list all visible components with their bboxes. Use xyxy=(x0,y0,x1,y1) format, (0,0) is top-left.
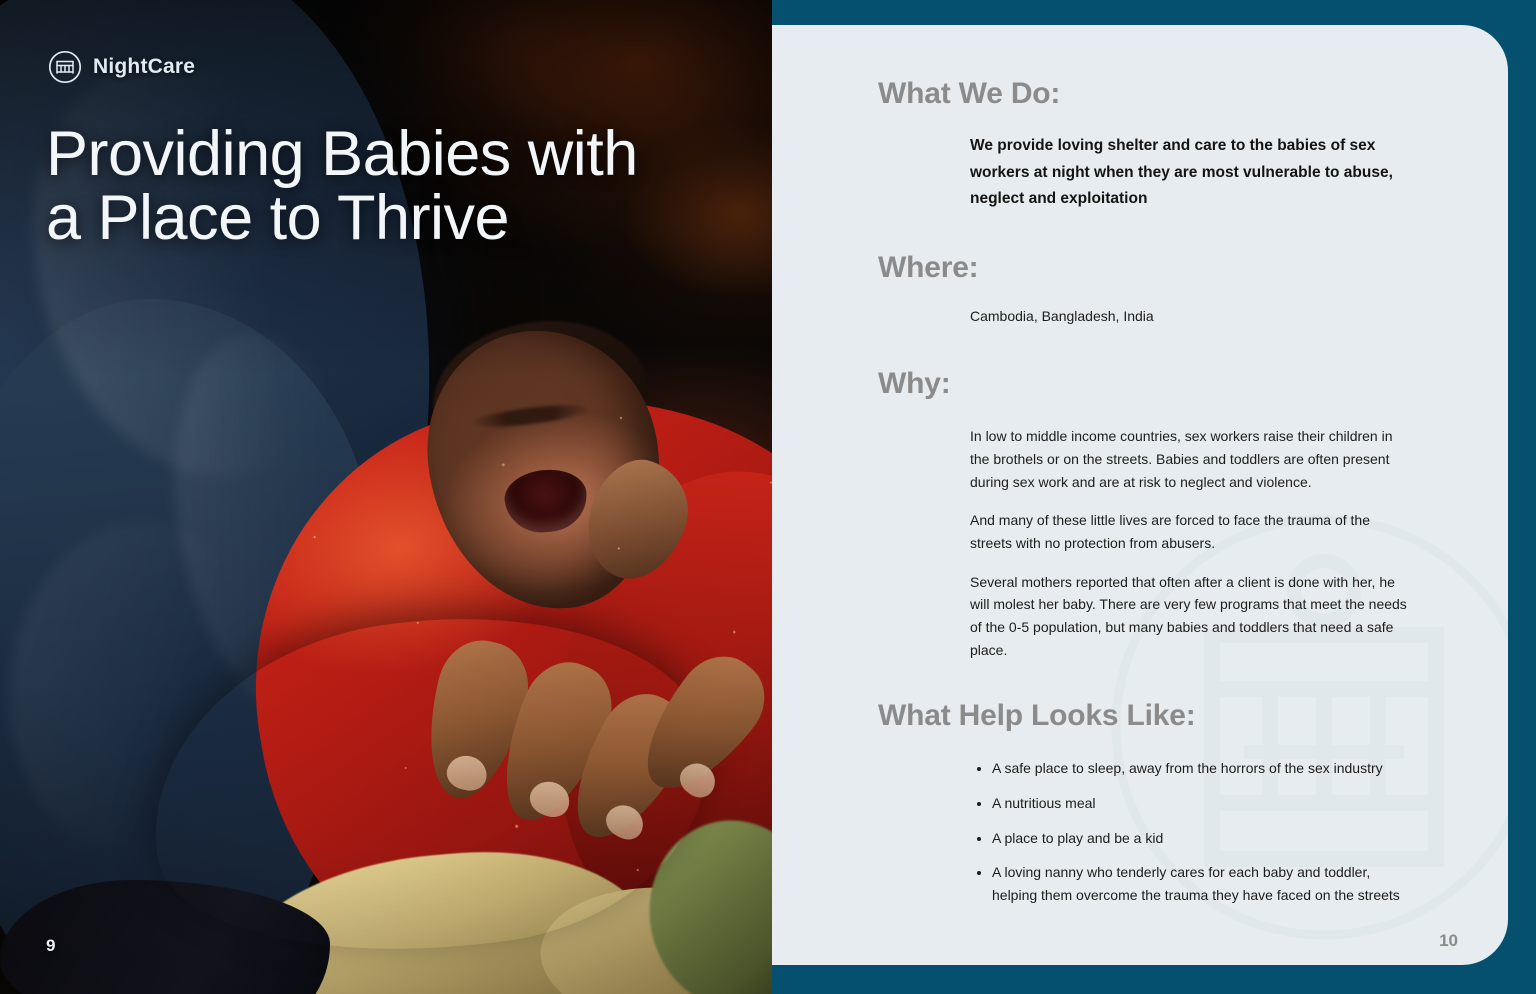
list-item: A place to play and be a kid xyxy=(992,827,1412,850)
brand-name: NightCare xyxy=(93,55,195,79)
section-heading-why: Why: xyxy=(878,367,1468,401)
left-page-photo: NightCare Providing Babies with a Place … xyxy=(0,0,772,994)
page-title-line-2: a Place to Thrive xyxy=(46,186,686,250)
section-heading-what-we-do: What We Do: xyxy=(878,77,1468,111)
help-body: A safe place to sleep, away from the hor… xyxy=(970,757,1412,906)
panel-content: What We Do: We provide loving shelter an… xyxy=(772,25,1508,907)
why-paragraph: Several mothers reported that often afte… xyxy=(970,571,1412,662)
why-paragraph: And many of these little lives are force… xyxy=(970,509,1412,554)
brand-lockup: NightCare xyxy=(48,50,195,84)
section-heading-what-help-looks-like: What Help Looks Like: xyxy=(878,699,1468,733)
help-bullet-list: A safe place to sleep, away from the hor… xyxy=(970,757,1412,906)
page-title: Providing Babies with a Place to Thrive xyxy=(46,122,686,251)
where-locations: Cambodia, Bangladesh, India xyxy=(970,305,1412,327)
content-panel: What We Do: We provide loving shelter an… xyxy=(772,25,1508,965)
page-title-line-1: Providing Babies with xyxy=(46,122,686,186)
why-paragraph: In low to middle income countries, sex w… xyxy=(970,425,1412,493)
brochure-spread: NightCare Providing Babies with a Place … xyxy=(0,0,1536,994)
page-number-right: 10 xyxy=(1439,931,1458,951)
right-page: What We Do: We provide loving shelter an… xyxy=(772,0,1536,994)
page-number-left: 9 xyxy=(46,936,55,956)
list-item: A safe place to sleep, away from the hor… xyxy=(992,757,1412,780)
what-we-do-lead-text: We provide loving shelter and care to th… xyxy=(970,133,1402,213)
list-item: A nutritious meal xyxy=(992,792,1412,815)
where-body: Cambodia, Bangladesh, India xyxy=(970,305,1412,327)
section-heading-where: Where: xyxy=(878,251,1468,285)
crib-icon xyxy=(48,50,82,84)
list-item: A loving nanny who tenderly cares for ea… xyxy=(992,861,1412,906)
why-body: In low to middle income countries, sex w… xyxy=(970,425,1412,661)
